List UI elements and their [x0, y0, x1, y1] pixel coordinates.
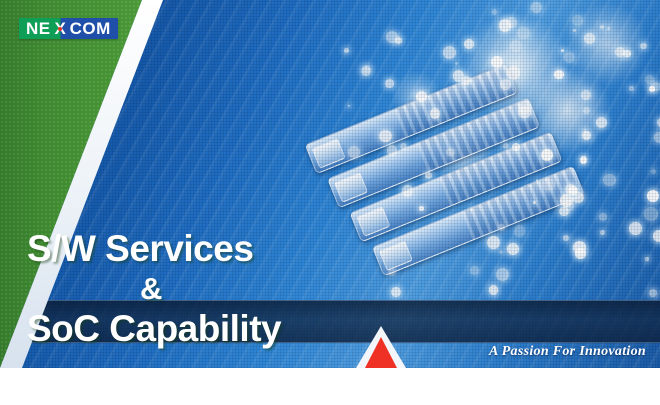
company-tagline: A Passion For Innovation: [489, 344, 646, 360]
triangle-inner-shape: [365, 337, 397, 368]
logo-text-com: COM: [68, 18, 118, 39]
logo-red-dot-icon: [58, 27, 62, 31]
title-line-3: SoC Capability: [27, 308, 347, 350]
triangle-emblem: [356, 326, 406, 368]
slide-title: S/W Services & SoC Capability: [27, 228, 347, 350]
logo-text-ne: NE: [19, 18, 53, 39]
logo-letter-x: X: [53, 18, 68, 39]
nexcom-logo[interactable]: NE X COM: [19, 18, 118, 39]
title-slide: NE X COM S/W Services & SoC Capability A…: [0, 0, 660, 368]
title-line-2: &: [27, 270, 347, 308]
title-line-1: S/W Services: [27, 228, 347, 270]
page-bottom-margin: [0, 368, 660, 405]
